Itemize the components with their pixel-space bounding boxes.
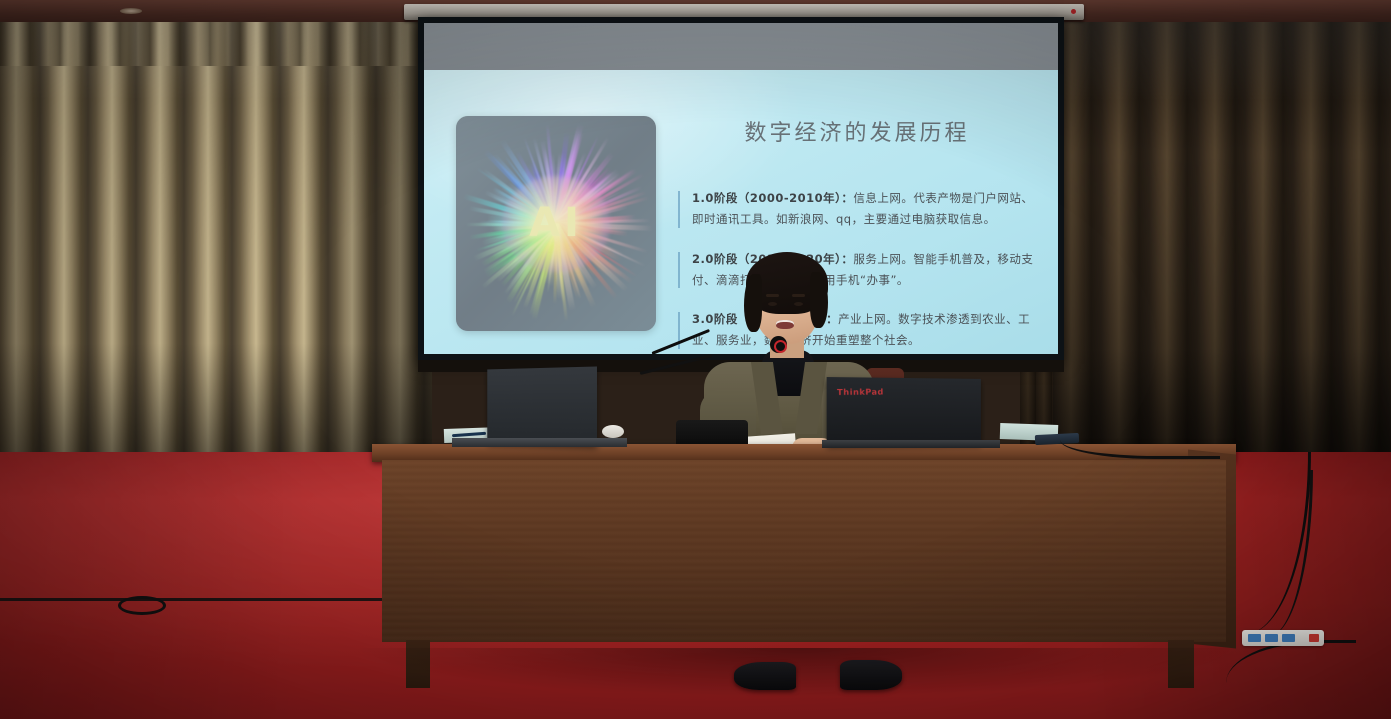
- power-socket-icon: [1248, 634, 1261, 642]
- shoe-left: [734, 662, 796, 690]
- shoe-right: [840, 660, 902, 690]
- bullet-accent-bar: [678, 252, 680, 289]
- slide-bullet-item: 1.0阶段（2000-2010年）：信息上网。代表产物是门户网站、即时通讯工具。…: [678, 188, 1036, 231]
- screen-unlit-band: [424, 23, 1058, 70]
- desk-shadow: [360, 648, 1240, 696]
- thinkpad-logo: ThinkPad: [837, 387, 884, 397]
- presenter-hair-left: [744, 274, 762, 332]
- bullet-lead: 1.0阶段（2000-2010年）：: [692, 191, 853, 205]
- stage-curtain-pleats: [0, 22, 432, 66]
- bullet-accent-bar: [678, 191, 680, 228]
- screen-indicator-icon: [1071, 9, 1076, 14]
- power-socket-icon: [1265, 634, 1278, 642]
- laptop-right-base[interactable]: [822, 440, 1000, 448]
- laptop-left-base[interactable]: [452, 438, 627, 447]
- laptop-right-thinkpad[interactable]: ThinkPad: [827, 377, 981, 445]
- presenter-eye-right: [794, 302, 803, 306]
- ceiling-light-icon: [120, 8, 142, 14]
- microphone-indicator-icon: [774, 340, 787, 353]
- slide-image-ai-burst: AI: [456, 116, 656, 331]
- slide-title: 数字经济的发展历程: [692, 115, 1022, 147]
- projector-haze: [456, 116, 656, 331]
- power-socket-icon: [1282, 634, 1295, 642]
- floor-cable-loop: [118, 596, 166, 615]
- stage-curtain-right-shading: [1053, 22, 1391, 462]
- lecture-hall-photo: AI 数字经济的发展历程 1.0阶段（2000-2010年）：信息上网。代表产物…: [0, 0, 1391, 719]
- presenter-eye-left: [768, 302, 777, 306]
- power-switch-icon[interactable]: [1309, 634, 1319, 642]
- computer-mouse[interactable]: [602, 425, 624, 438]
- power-strip[interactable]: [1242, 630, 1324, 646]
- presenter-brow-left: [766, 294, 779, 297]
- stage-curtain-left-shading: [0, 22, 432, 456]
- presenter-brow-right: [792, 294, 805, 297]
- laptop-left[interactable]: [487, 366, 597, 445]
- presenter-mouth: [776, 320, 794, 329]
- desk-wood-grain: [382, 460, 1226, 642]
